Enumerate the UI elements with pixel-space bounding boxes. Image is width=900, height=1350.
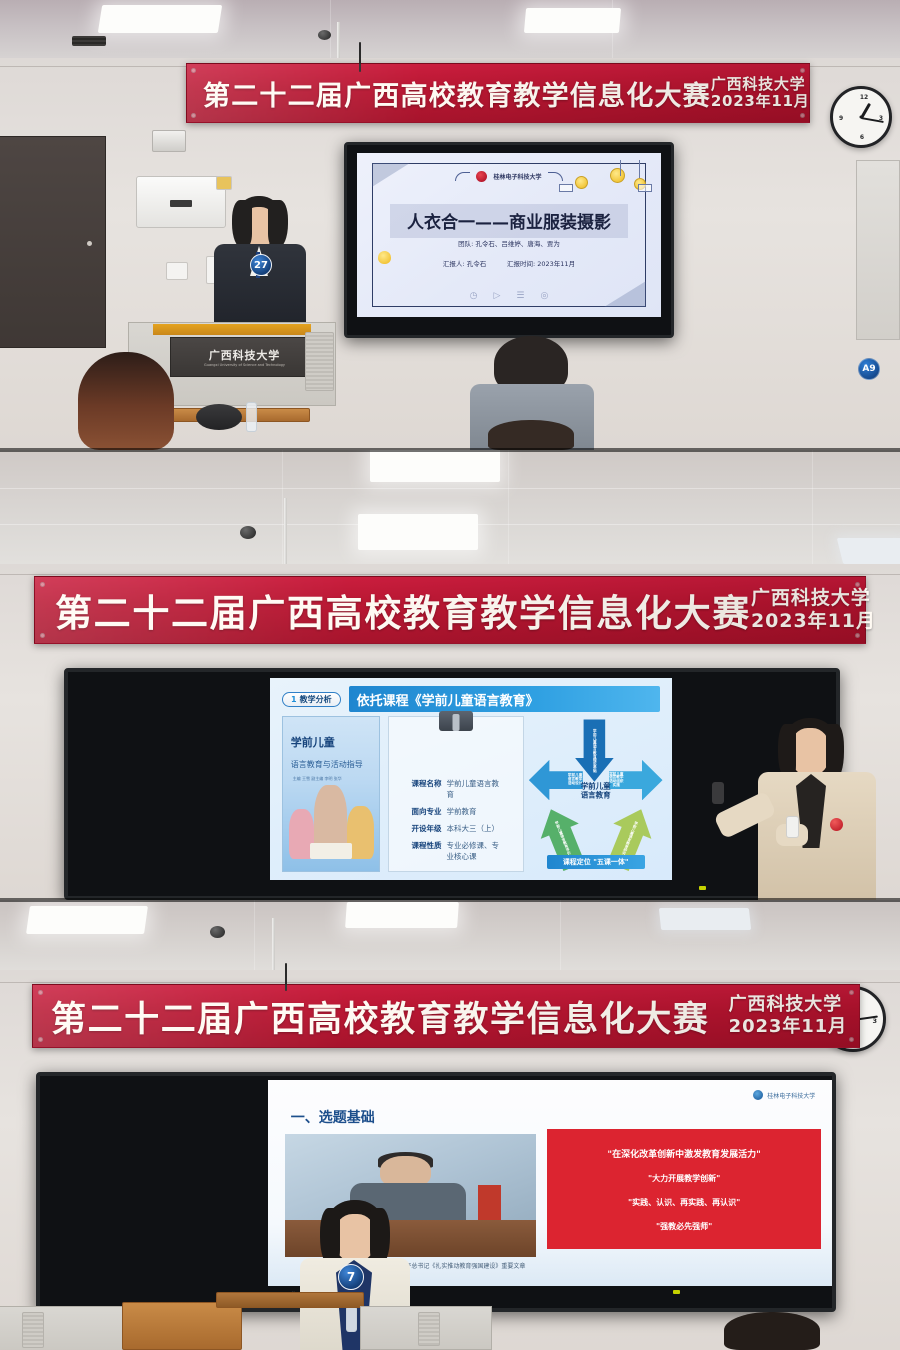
door-knob-icon[interactable] <box>87 241 92 246</box>
banner-date-text: 2023年11月 <box>729 1016 847 1038</box>
microphone-icon[interactable] <box>786 816 799 838</box>
event-banner-2: 第二十二届广西高校教育教学信息化大赛 广西科技大学 2023年11月 <box>34 576 866 644</box>
ceiling-light-panel <box>524 8 621 33</box>
decor-swoosh-left-icon <box>455 172 470 181</box>
banner-main-text: 第二十二届广西高校教育教学信息化大赛 <box>203 74 711 113</box>
clock-number: 3 <box>872 1017 877 1025</box>
clock-number: 12 <box>860 94 868 101</box>
banner-grommet <box>855 582 860 587</box>
banner-org-text: 广西科技大学 <box>711 76 810 93</box>
photo-collage: 12 3 6 9 第二十二届广西高校教育教学信息化大赛 广西科技大学 2023年… <box>0 0 900 1350</box>
course-info-card: 课程名称 学前儿童语言教育 面向专业 学前教育 开设年级 本科大三（上） <box>388 716 524 872</box>
ceiling-light-panel <box>345 902 459 928</box>
banner-grommet <box>40 633 45 638</box>
quote-line: "在深化改革创新中激发教育发展活力" <box>607 1147 760 1160</box>
team-members: 孔令石、吕维婷、唐海、贾为 <box>475 240 560 248</box>
quote-line: "强教必先强师" <box>656 1221 712 1232</box>
audience-hair <box>488 420 574 450</box>
banner-grommet <box>800 113 805 118</box>
room-number-badge: A9 <box>858 358 880 380</box>
podium-name-cn: 广西科技大学 <box>209 347 280 363</box>
event-banner-1: 第二十二届广西高校教育教学信息化大赛 广西科技大学 2023年11月 <box>186 63 810 123</box>
banner-grommet <box>849 1037 854 1042</box>
banner-grommet <box>800 68 805 73</box>
slide2-section-tag: 1 教学分析 <box>282 692 341 707</box>
slide-team-line: 团队: 孔令石、吕维婷、唐海、贾为 <box>357 238 661 248</box>
reporter-name: 孔令石 <box>467 260 487 268</box>
presenter-number-badge: 27 <box>250 254 272 276</box>
presenter-hair-side <box>268 200 288 248</box>
ceiling-light-panel <box>837 538 900 564</box>
banner-org-text: 广西科技大学 <box>729 994 847 1016</box>
desk-object <box>196 404 242 430</box>
slide-title: 人衣合一——商业服装摄影 <box>407 208 611 233</box>
display-screen-3[interactable]: 桂林电子科技大学 一、选题基础 "在深化改革创新中激发教育发展活力" "大力开展… <box>36 1072 836 1312</box>
info-key: 面向专业 <box>412 806 442 817</box>
clock-small-icon: ◷ <box>470 291 478 301</box>
wall-clock: 12 3 6 9 <box>830 86 892 148</box>
target-icon: ◎ <box>541 291 549 301</box>
classroom-scene-1: 12 3 6 9 第二十二届广西高校教育教学信息化大赛 广西科技大学 2023年… <box>0 0 900 450</box>
clock-number: 9 <box>839 115 843 122</box>
info-row: 课程名称 学前儿童语言教育 <box>412 778 501 800</box>
collage-panel-1: 12 3 6 9 第二十二届广西高校教育教学信息化大赛 广西科技大学 2023年… <box>0 0 900 450</box>
ceiling-light-panel <box>26 906 148 934</box>
slide2-headline: 依托课程《学前儿童语言教育》 <box>349 686 660 712</box>
slide2-body: 学前儿童 语言教育与活动指导 主编 王雪 副主编 李明 张华 <box>282 716 660 872</box>
podium-name-en: Guangxi University of Science and Techno… <box>204 363 285 367</box>
list-icon: ☰ <box>516 291 524 301</box>
wall-trim-line <box>0 982 900 983</box>
slide-title-band: 人衣合一——商业服装摄影 <box>390 204 627 238</box>
presenter-number-badge: 7 <box>338 1264 364 1290</box>
presentation-slide-2: 1 教学分析 依托课程《学前儿童语言教育》 学前儿童 语言教育与活动指导 主编 … <box>270 678 672 880</box>
ceiling-vent <box>72 36 106 46</box>
slide3-logo-text: 桂林电子科技大学 <box>767 1091 815 1100</box>
ceiling-seam-vertical <box>330 0 331 62</box>
ceiling-camera-icon <box>240 526 256 539</box>
classroom-door[interactable] <box>0 136 106 348</box>
banner-org-text: 广西科技大学 <box>751 587 876 610</box>
info-value: 专业必修课、专业核心课 <box>447 840 501 862</box>
ceiling-light-panel <box>98 5 222 33</box>
info-row: 课程性质 专业必修课、专业核心课 <box>412 840 501 862</box>
slide2-header: 1 教学分析 依托课程《学前儿童语言教育》 <box>282 686 660 712</box>
slide3-title: 一、选题基础 <box>291 1107 375 1127</box>
banner-grommet <box>191 68 196 73</box>
decor-node-icon <box>575 176 588 189</box>
audience-hair <box>78 352 174 450</box>
decor-node-icon <box>610 168 625 183</box>
presenter-flower-badge <box>830 818 843 831</box>
classroom-scene-2: 第二十二届广西高校教育教学信息化大赛 广西科技大学 2023年11月 1 教学分… <box>0 450 900 900</box>
slide3-logo: 桂林电子科技大学 <box>753 1090 815 1100</box>
presenter-face <box>790 728 830 776</box>
reporter-label: 汇报人: <box>443 260 465 268</box>
section-number: 1 <box>291 695 297 704</box>
diagram-caption: 课程定位 "五课一体" <box>547 855 645 869</box>
info-row: 开设年级 本科大三（上） <box>412 823 501 834</box>
decor-chip-icon <box>559 184 573 192</box>
info-key: 课程性质 <box>412 840 442 851</box>
ceiling-seam <box>0 488 900 489</box>
audience-member-4 <box>724 1312 820 1350</box>
book-subtitle: 语言教育与活动指导 <box>291 759 372 770</box>
info-value: 学前儿童语言教育 <box>447 778 501 800</box>
podium-speaker-grille <box>305 332 334 391</box>
book-title: 学前儿童 <box>291 734 372 750</box>
play-icon: ▷ <box>494 291 501 301</box>
podium-nameplate: 广西科技大学 Guangxi University of Science and… <box>170 337 320 377</box>
collage-panel-3: 12 3 6 9 第二十二届广西高校教育教学信息化大赛 广西科技大学 2023年… <box>0 900 900 1350</box>
quote-line: "大力开展教学创新" <box>648 1173 720 1184</box>
five-in-one-diagram: 学前儿童语言教育理论基础 学前儿童语言教学活动设计 学前儿童语言教学活动组织实施… <box>531 716 660 872</box>
time-value: 2023年11月 <box>537 260 575 268</box>
banner-grommet <box>40 582 45 587</box>
book-cover-illustration <box>283 779 379 859</box>
wall-panel <box>856 160 900 340</box>
decor-wire <box>620 160 621 176</box>
audience-member-3 <box>488 420 574 450</box>
banner-grommet <box>38 990 43 995</box>
decor-wire <box>639 160 640 178</box>
clicker-remote[interactable] <box>712 782 724 804</box>
display-power-led <box>673 1290 680 1294</box>
wall-socket[interactable] <box>166 262 188 280</box>
ceiling-seam-vertical <box>254 900 255 976</box>
wall-trim-line <box>0 574 900 575</box>
microphone-icon[interactable] <box>346 1306 357 1332</box>
podium-speaker-grille <box>22 1312 44 1348</box>
presenter-2 <box>724 718 892 900</box>
diagram-center-label: 学前儿童语言教育 <box>581 782 611 801</box>
panel-divider <box>0 450 900 452</box>
figure-book-prop <box>310 843 352 859</box>
info-key: 课程名称 <box>412 778 442 789</box>
clock-number: 3 <box>879 115 883 122</box>
info-row: 面向专业 学前教育 <box>412 806 501 817</box>
time-label: 汇报时间: <box>507 260 535 268</box>
ceiling-seam-vertical <box>282 450 283 570</box>
wall-socket[interactable] <box>216 176 232 190</box>
banner-grommet <box>855 633 860 638</box>
desk-ledge <box>216 1292 364 1308</box>
panel-divider <box>0 900 900 902</box>
banner-cable <box>285 963 287 991</box>
section-label: 教学分析 <box>300 694 332 705</box>
ceiling-seam-vertical <box>560 900 561 976</box>
info-value: 学前教育 <box>447 806 477 817</box>
info-value: 本科大三（上） <box>447 823 500 834</box>
audience-hair <box>724 1312 820 1350</box>
banner-date-text: 2023年11月 <box>751 610 876 633</box>
slide-bottom-icons: ◷ ▷ ☰ ◎ <box>357 291 661 301</box>
university-logo-icon <box>476 171 487 182</box>
water-bottle <box>246 402 257 432</box>
podium-gold-band <box>153 324 311 336</box>
collage-panel-2: 第二十二届广西高校教育教学信息化大赛 广西科技大学 2023年11月 1 教学分… <box>0 450 900 900</box>
ceiling-light-panel <box>659 908 751 930</box>
clock-number: 6 <box>860 134 864 141</box>
slide3-quote-box: "在深化改革创新中激发教育发展活力" "大力开展教学创新" "实践、认识、再实践… <box>547 1129 821 1248</box>
team-label: 团队: <box>458 240 473 248</box>
banner-grommet <box>191 113 196 118</box>
ceiling-seam-vertical <box>812 450 813 570</box>
banner-grommet <box>849 990 854 995</box>
university-logo-icon <box>753 1090 763 1100</box>
decor-swoosh-right-icon <box>548 172 563 181</box>
podium-wood-top <box>122 1302 242 1350</box>
banner-main-text: 第二十二届广西高校教育教学信息化大赛 <box>51 991 729 1042</box>
reporter-field: 汇报人: 孔令石 <box>443 258 486 268</box>
photo-flag <box>478 1185 501 1222</box>
classroom-scene-3: 12 3 6 9 第二十二届广西高校教育教学信息化大赛 广西科技大学 2023年… <box>0 900 900 1350</box>
time-field: 汇报时间: 2023年11月 <box>507 258 575 268</box>
ceiling-camera-icon <box>318 30 331 40</box>
podium-3-right <box>360 1306 492 1350</box>
paper-clip-icon <box>439 711 473 731</box>
ceiling-light-panel <box>370 450 500 482</box>
slide-meta-row: 汇报人: 孔令石 汇报时间: 2023年11月 <box>393 258 624 268</box>
presenter-1: 27 <box>212 196 308 342</box>
banner-date-text: 2023年11月 <box>711 93 810 110</box>
display-power-led <box>699 886 706 890</box>
decor-chip-icon <box>638 184 652 192</box>
presenter-hair-side <box>232 200 252 248</box>
event-banner-3: 第二十二届广西高校教育教学信息化大赛 广西科技大学 2023年11月 <box>32 984 860 1048</box>
wall-camera <box>152 130 186 152</box>
podium-speaker-grille <box>418 1312 440 1346</box>
banner-cable <box>359 42 361 72</box>
ceiling-camera-icon <box>210 926 225 938</box>
audience-member-1 <box>72 352 180 450</box>
ceiling-light-panel <box>358 514 478 550</box>
info-key: 开设年级 <box>412 823 442 834</box>
display-screen-1[interactable]: 桂林电子科技大学 人衣合一——商业服装摄影 团队: <box>344 142 674 338</box>
textbook-cover: 学前儿童 语言教育与活动指导 主编 王雪 副主编 李明 张华 <box>282 716 380 872</box>
slide-logo-text: 桂林电子科技大学 <box>493 172 541 181</box>
presentation-slide-1: 桂林电子科技大学 人衣合一——商业服装摄影 团队: <box>357 153 661 317</box>
diagram-arrow-left: 学前儿童语言教学活动设计 <box>529 760 583 800</box>
quote-line: "实践、认识、再实践、再认识" <box>628 1197 740 1208</box>
ceiling-seam-vertical <box>508 450 509 570</box>
banner-main-text: 第二十二届广西高校教育教学信息化大赛 <box>55 583 751 637</box>
diagram-arrow-right: 学前儿童语言教学活动组织实施 <box>609 760 663 800</box>
banner-grommet <box>38 1037 43 1042</box>
